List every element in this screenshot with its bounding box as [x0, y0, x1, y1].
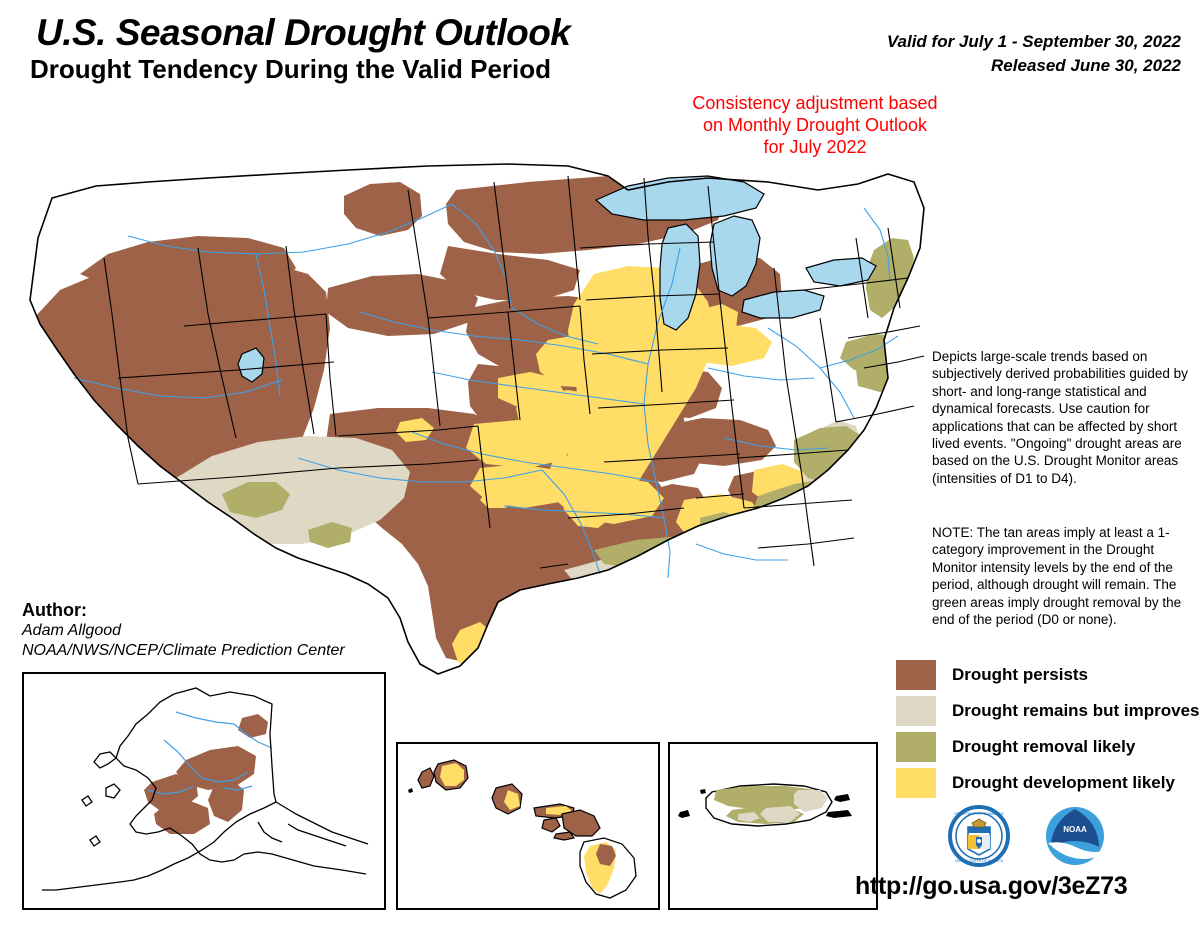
alaska-drought-persists — [144, 714, 268, 834]
agency-logos: DEPARTMENT OF COMMERCE UNITED STATES OF … — [948, 805, 1118, 867]
author-label: Author: — [22, 600, 87, 621]
islet — [408, 788, 413, 793]
url-link[interactable]: http://go.usa.gov/3eZ73 — [855, 872, 1127, 901]
legend-swatch-drought-improves — [896, 696, 936, 726]
legend-item-drought-persists: Drought persists — [896, 658, 1199, 691]
noaa-logo-icon: NOAA — [1046, 807, 1104, 865]
puerto-rico-map-svg — [670, 744, 875, 907]
legend-item-drought-improves: Drought remains but improves — [896, 694, 1199, 727]
valid-period-text: Valid for July 1 - September 30, 2022 — [887, 32, 1181, 52]
island-culebra — [834, 794, 850, 802]
island-kauai — [434, 760, 468, 790]
legend-label-drought-persists: Drought persists — [952, 665, 1088, 685]
legend-swatch-drought-removal — [896, 732, 936, 762]
hawaii-map-svg — [398, 744, 657, 907]
island-lanai — [542, 818, 560, 832]
island-vieques — [826, 810, 852, 818]
legend: Drought persists Drought remains but imp… — [896, 658, 1199, 802]
inset-map-puerto-rico — [668, 742, 878, 910]
conus-map-svg — [8, 78, 938, 678]
description-text: Depicts large-scale trends based on subj… — [932, 348, 1194, 487]
note-text: NOTE: The tan areas imply at least a 1-c… — [932, 524, 1194, 628]
author-organization: NOAA/NWS/NCEP/Climate Prediction Center — [22, 642, 345, 660]
legend-item-drought-development: Drought development likely — [896, 766, 1199, 799]
svg-text:UNITED STATES OF AMERICA: UNITED STATES OF AMERICA — [955, 859, 1004, 863]
page-title: U.S. Seasonal Drought Outlook — [36, 12, 570, 54]
author-name: Adam Allgood — [22, 622, 121, 640]
dept-of-commerce-seal-icon: DEPARTMENT OF COMMERCE UNITED STATES OF … — [950, 807, 1008, 865]
alaska-map-svg — [24, 674, 383, 907]
islet-desecheo — [700, 789, 706, 794]
island-niihau — [418, 768, 434, 788]
legend-swatch-drought-development — [896, 768, 936, 798]
svg-text:NOAA: NOAA — [1063, 825, 1087, 834]
puerto-rico-main-island — [706, 784, 832, 826]
legend-label-drought-development: Drought development likely — [952, 773, 1175, 793]
inset-map-hawaii — [396, 742, 660, 910]
legend-item-drought-removal: Drought removal likely — [896, 730, 1199, 763]
legend-swatch-drought-persists — [896, 660, 936, 690]
inset-map-alaska — [22, 672, 386, 910]
island-mona — [678, 810, 690, 818]
conus-map — [8, 78, 938, 678]
legend-label-drought-improves: Drought remains but improves — [952, 701, 1199, 721]
logos-svg: DEPARTMENT OF COMMERCE UNITED STATES OF … — [948, 805, 1118, 867]
released-date-text: Released June 30, 2022 — [991, 56, 1181, 76]
legend-label-drought-removal: Drought removal likely — [952, 737, 1135, 757]
island-hawaii — [580, 838, 636, 898]
consistency-adjustment-note: Consistency adjustment based on Monthly … — [690, 92, 940, 158]
svg-text:DEPARTMENT OF COMMERCE: DEPARTMENT OF COMMERCE — [954, 812, 1004, 816]
island-oahu — [492, 784, 522, 814]
